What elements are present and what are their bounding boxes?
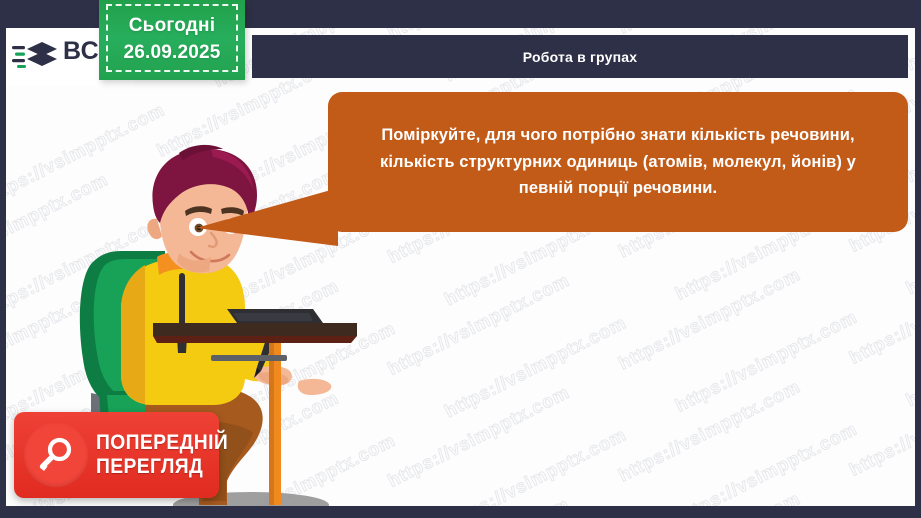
speech-bubble: Поміркуйте, для чого потрібно знати кіль…	[328, 92, 908, 232]
preview-button-line2: ПЕРЕГЛЯД	[96, 455, 228, 479]
preview-button-line1: ПОПЕРЕДНІЙ	[96, 431, 228, 455]
today-date-badge: Сьогодні 26.09.2025	[99, 0, 245, 80]
magnifier-icon	[24, 423, 88, 487]
speech-bubble-tail	[196, 188, 338, 256]
frame-bottom	[0, 506, 921, 518]
slide-header-bar: Робота в групах	[252, 35, 908, 78]
slide-viewer: https://vsimpptx.comhttps://vsimpptx.com…	[0, 0, 921, 518]
today-label: Сьогодні	[129, 13, 215, 40]
today-date: 26.09.2025	[123, 40, 220, 67]
preview-button[interactable]: ПОПЕРЕДНІЙ ПЕРЕГЛЯД	[14, 412, 219, 498]
speech-bubble-text: Поміркуйте, для чого потрібно знати кіль…	[354, 122, 882, 202]
graduation-cap-icon	[12, 38, 58, 77]
page-title: Робота в групах	[523, 49, 637, 65]
frame-right	[915, 0, 921, 518]
